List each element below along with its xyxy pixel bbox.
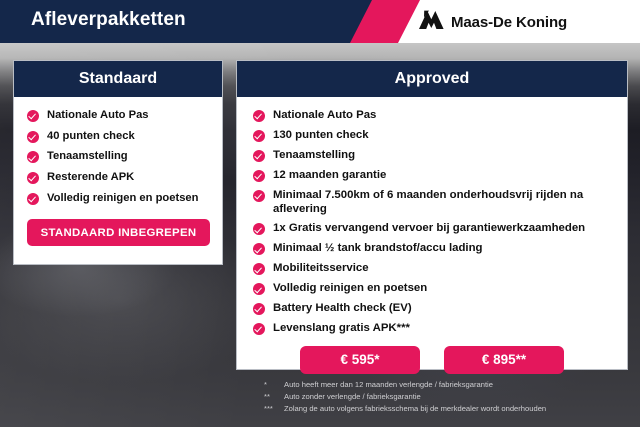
feature-label: Minimaal ½ tank brandstof/accu lading xyxy=(273,242,483,256)
check-circle-icon xyxy=(253,170,265,182)
feature-label: 1x Gratis vervangend vervoer bij garanti… xyxy=(273,222,585,236)
footnotes: * Auto heeft meer dan 12 maanden verleng… xyxy=(264,379,624,414)
footnote-row: ** Auto zonder verlengde / fabrieksgaran… xyxy=(264,391,624,403)
list-item: Minimaal 7.500km of 6 maanden onderhouds… xyxy=(253,189,617,217)
list-item: 12 maanden garantie xyxy=(253,169,617,183)
feature-label: Levenslang gratis APK*** xyxy=(273,322,410,336)
list-item: Battery Health check (EV) xyxy=(253,302,617,316)
afleverpakketten-poster: Afleverpakketten Maas-De Koning Standaar… xyxy=(0,0,640,427)
approved-card-title: Approved xyxy=(237,61,627,97)
check-circle-icon xyxy=(27,172,39,184)
feature-label: Resterende APK xyxy=(47,171,134,185)
check-circle-icon xyxy=(253,263,265,275)
price-595-button[interactable]: € 595* xyxy=(300,346,420,374)
standaard-feature-list: Nationale Auto Pas 40 punten check Tenaa… xyxy=(27,109,212,205)
list-item: 40 punten check xyxy=(27,130,212,144)
feature-label: Tenaamstelling xyxy=(273,149,355,163)
list-item: Resterende APK xyxy=(27,171,212,185)
approved-feature-list: Nationale Auto Pas 130 punten check Tena… xyxy=(253,109,617,336)
feature-label: Nationale Auto Pas xyxy=(47,109,149,123)
feature-label: Minimaal 7.500km of 6 maanden onderhouds… xyxy=(273,189,617,217)
maas-de-koning-m-logo-icon xyxy=(418,10,444,35)
list-item: Volledig reinigen en poetsen xyxy=(253,282,617,296)
footnote-marker: * xyxy=(264,379,284,391)
check-circle-icon xyxy=(253,223,265,235)
feature-label: Mobiliteitsservice xyxy=(273,262,369,276)
feature-label: 40 punten check xyxy=(47,130,135,144)
page-title: Afleverpakketten xyxy=(31,9,186,31)
list-item: Tenaamstelling xyxy=(27,150,212,164)
list-item: Nationale Auto Pas xyxy=(253,109,617,123)
feature-label: 12 maanden garantie xyxy=(273,169,386,183)
list-item: 130 punten check xyxy=(253,129,617,143)
check-circle-icon xyxy=(27,110,39,122)
list-item: Minimaal ½ tank brandstof/accu lading xyxy=(253,242,617,256)
approved-price-row: € 595* € 895** xyxy=(253,346,617,374)
check-circle-icon xyxy=(27,151,39,163)
page-banner: Afleverpakketten Maas-De Koning xyxy=(0,0,640,43)
price-895-button[interactable]: € 895** xyxy=(444,346,564,374)
approved-card: Approved Nationale Auto Pas 130 punten c… xyxy=(236,60,628,370)
feature-label: Tenaamstelling xyxy=(47,150,128,164)
footnote-row: *** Zolang de auto volgens fabrieksschem… xyxy=(264,403,624,415)
footnote-text: Zolang de auto volgens fabrieksschema bi… xyxy=(284,403,624,415)
check-circle-icon xyxy=(253,190,265,202)
check-circle-icon xyxy=(253,283,265,295)
check-circle-icon xyxy=(253,150,265,162)
standaard-card-body: Nationale Auto Pas 40 punten check Tenaa… xyxy=(14,97,222,258)
brand-name: Maas-De Koning xyxy=(451,14,567,31)
footnote-marker: ** xyxy=(264,391,284,403)
check-circle-icon xyxy=(253,303,265,315)
list-item: Mobiliteitsservice xyxy=(253,262,617,276)
list-item: Volledig reinigen en poetsen xyxy=(27,192,212,206)
feature-label: Volledig reinigen en poetsen xyxy=(47,192,198,206)
check-circle-icon xyxy=(253,243,265,255)
feature-label: Nationale Auto Pas xyxy=(273,109,376,123)
standaard-card: Standaard Nationale Auto Pas 40 punten c… xyxy=(13,60,223,265)
list-item: Nationale Auto Pas xyxy=(27,109,212,123)
footnote-text: Auto heeft meer dan 12 maanden verlengde… xyxy=(284,379,624,391)
feature-label: Volledig reinigen en poetsen xyxy=(273,282,427,296)
check-circle-icon xyxy=(253,130,265,142)
list-item: Tenaamstelling xyxy=(253,149,617,163)
standaard-inbegrepen-button[interactable]: STANDAARD INBEGREPEN xyxy=(27,219,210,246)
feature-label: Battery Health check (EV) xyxy=(273,302,412,316)
check-circle-icon xyxy=(253,323,265,335)
list-item: Levenslang gratis APK*** xyxy=(253,322,617,336)
check-circle-icon xyxy=(253,110,265,122)
standaard-card-title: Standaard xyxy=(14,61,222,97)
footnote-text: Auto zonder verlengde / fabrieksgarantie xyxy=(284,391,624,403)
footnote-row: * Auto heeft meer dan 12 maanden verleng… xyxy=(264,379,624,391)
check-circle-icon xyxy=(27,193,39,205)
footnote-marker: *** xyxy=(264,403,284,415)
feature-label: 130 punten check xyxy=(273,129,369,143)
approved-card-body: Nationale Auto Pas 130 punten check Tena… xyxy=(237,97,627,382)
brand-lockup: Maas-De Koning xyxy=(418,10,567,35)
list-item: 1x Gratis vervangend vervoer bij garanti… xyxy=(253,222,617,236)
check-circle-icon xyxy=(27,131,39,143)
